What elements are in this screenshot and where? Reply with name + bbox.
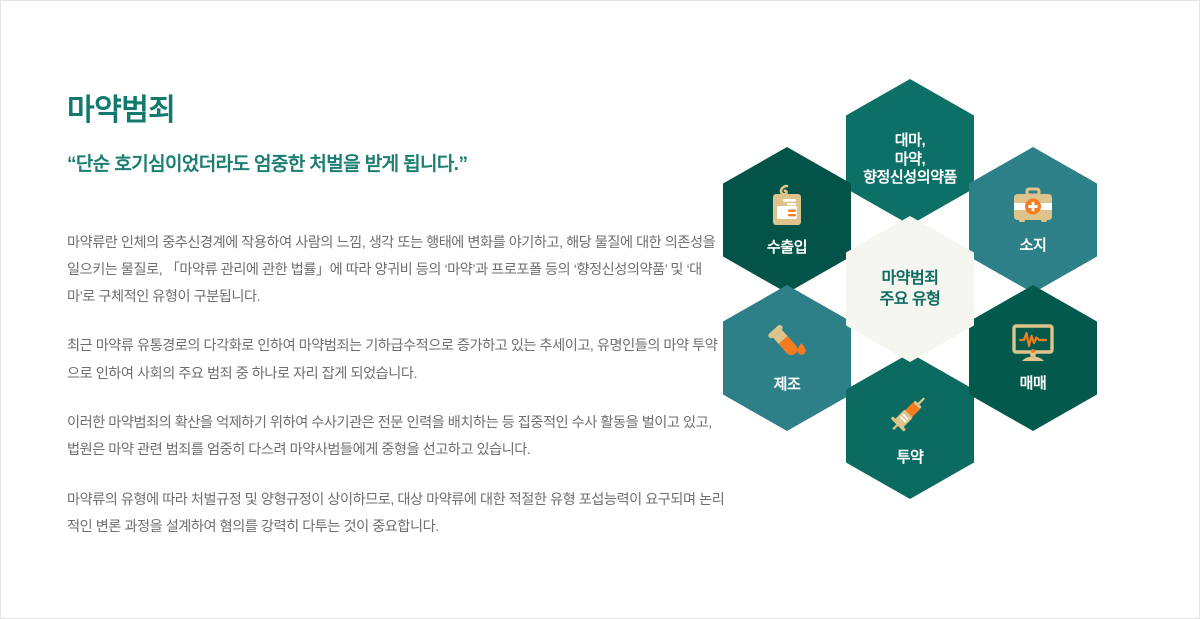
paragraph-3: 이러한 마약범죄의 확산을 억제하기 위하여 수사기관은 전문 인력을 배치하는…	[67, 410, 727, 465]
medical-briefcase-icon	[1010, 185, 1056, 227]
hex-node-administration[interactable]: 투약	[846, 353, 974, 499]
hex-node-center: 마약범죄 주요 유형	[846, 216, 974, 362]
paragraph-4: 마약류의 유형에 따라 처벌규정 및 양형규정이 상이하므로, 대상 마약류에 …	[67, 487, 727, 542]
hex-node-import-export[interactable]: 수출입	[723, 147, 851, 293]
drug-crime-types-diagram: 대마, 마약, 향정신성의약품 수출입	[719, 79, 1101, 463]
paragraph-2: 최근 마약류 유통경로의 다각화로 인하여 마약범죄는 기하급수적으로 증가하고…	[67, 333, 727, 388]
hex-label-trade: 매매	[1020, 374, 1047, 393]
body-copy: 마약류란 인체의 중추신경계에 작용하여 사람의 느낌, 생각 또는 행태에 변…	[67, 230, 727, 541]
hex-node-trade[interactable]: 매매	[969, 285, 1097, 431]
hex-center-label: 마약범죄 주요 유형	[880, 268, 941, 311]
paragraph-1: 마약류란 인체의 중추신경계에 작용하여 사람의 느낌, 생각 또는 행태에 변…	[67, 230, 727, 312]
page-root: 마약범죄 “단순 호기심이었더라도 엄중한 처벌을 받게 됩니다.” 마약류란 …	[0, 0, 1200, 619]
test-tube-icon	[764, 322, 810, 366]
hex-label-substances: 대마, 마약, 향정신성의약품	[863, 132, 957, 189]
syringe-icon	[886, 391, 934, 439]
hex-label-administration: 투약	[897, 448, 924, 467]
content-column: 마약범죄 “단순 호기심이었더라도 엄중한 처벌을 받게 됩니다.” 마약류란 …	[67, 93, 727, 541]
hex-label-manufacture: 제조	[774, 375, 801, 394]
page-subtitle-quote: “단순 호기심이었더라도 엄중한 처벌을 받게 됩니다.”	[67, 153, 727, 178]
hex-node-substances[interactable]: 대마, 마약, 향정신성의약품	[846, 79, 974, 225]
page-title: 마약범죄	[67, 93, 727, 129]
hex-node-possession[interactable]: 소지	[969, 147, 1097, 293]
monitor-heartbeat-icon	[1009, 323, 1057, 365]
hex-node-manufacture[interactable]: 제조	[723, 285, 851, 431]
clipboard-tag-icon	[766, 183, 808, 229]
hex-label-possession: 소지	[1020, 236, 1047, 255]
hex-label-import-export: 수출입	[767, 238, 807, 257]
